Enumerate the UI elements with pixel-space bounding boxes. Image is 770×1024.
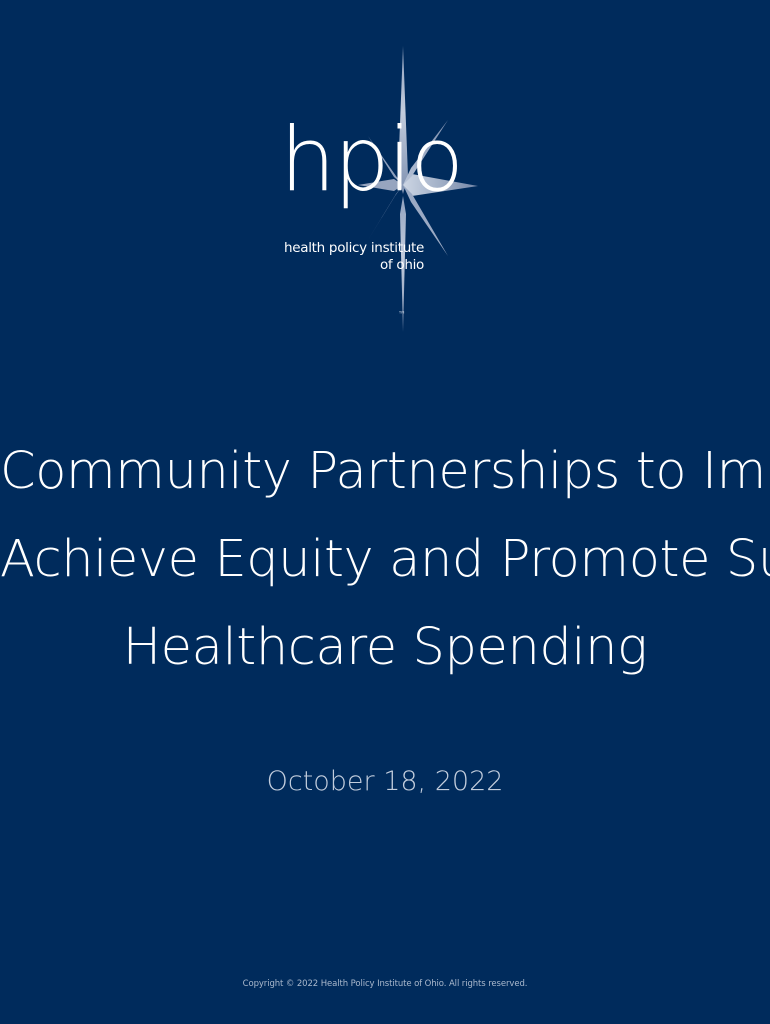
title-line-2: Achieve Equity and Promote Sustainable bbox=[0, 516, 770, 604]
logo-tagline: health policy institute of ohio bbox=[272, 240, 424, 274]
copyright-text: Copyright © 2022 Health Policy Institute… bbox=[243, 979, 528, 989]
presentation-date: October 18, 2022 bbox=[0, 766, 770, 797]
trademark-icon: ™ bbox=[398, 310, 407, 319]
hpio-logo: hpio health policy institute of ohio ™ bbox=[272, 44, 480, 334]
logo-wordmark: hpio bbox=[280, 116, 430, 204]
title-line-1: Community Partnerships to Improve Health… bbox=[0, 428, 770, 516]
logo-tagline-line2: of ohio bbox=[380, 257, 424, 273]
footer: Copyright © 2022 Health Policy Institute… bbox=[0, 973, 770, 991]
title-slide: hpio health policy institute of ohio ™ C… bbox=[0, 0, 770, 1024]
title-line-3: Healthcare Spending bbox=[0, 604, 770, 692]
date-text: October 18, 2022 bbox=[267, 766, 504, 797]
page-title: Community Partnerships to Improve Health… bbox=[0, 428, 770, 692]
logo-tagline-line1: health policy institute bbox=[284, 240, 424, 256]
